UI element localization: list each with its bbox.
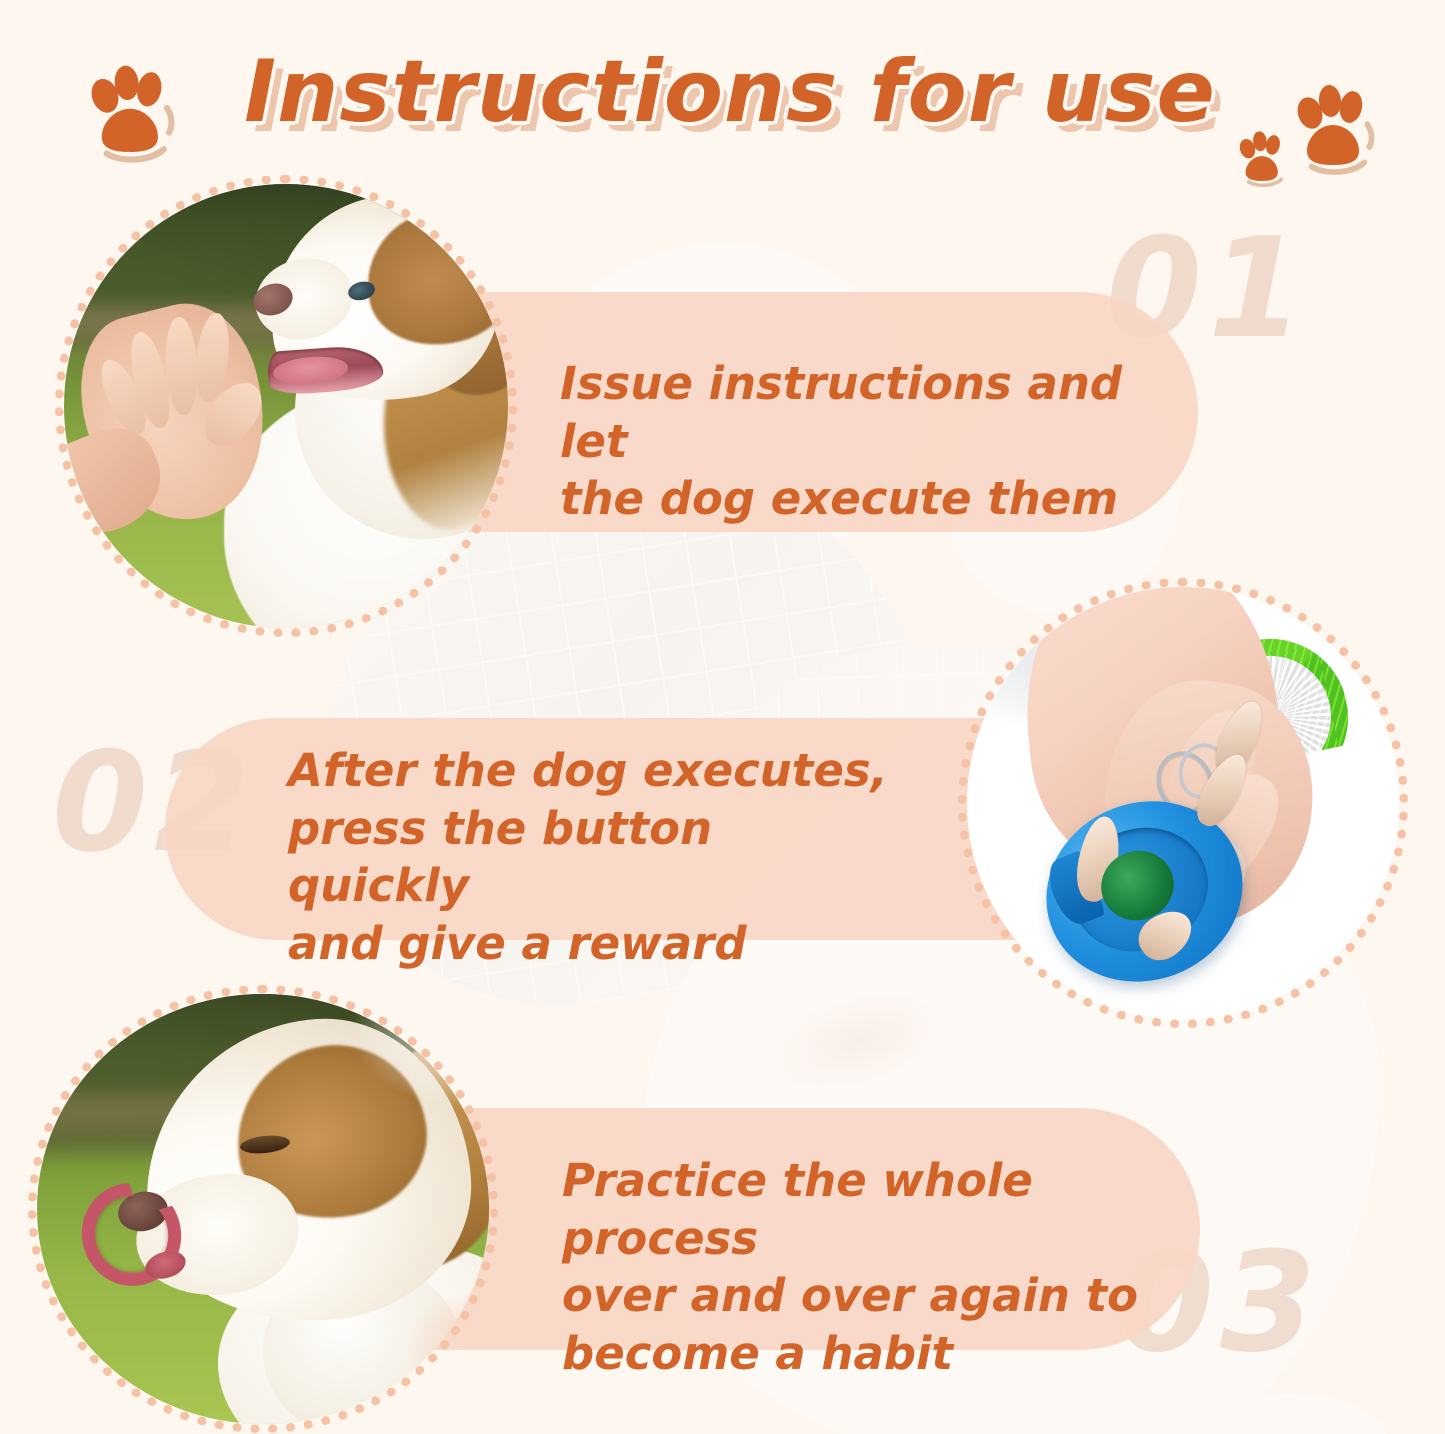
paw-print-icon: [1285, 76, 1385, 180]
watermark-dog-paw: [1144, 1383, 1395, 1434]
step-2-text: After the dog executes, press the button…: [288, 742, 908, 972]
step-3-text: Practice the whole process over and over…: [562, 1152, 1192, 1382]
step-3-photo: [28, 985, 498, 1433]
paw-print-icon: [78, 56, 186, 168]
step-2-photo: [958, 578, 1408, 1028]
instructions-poster: Instructions for use: [0, 0, 1445, 1434]
paw-print-icon: [1232, 126, 1294, 190]
page-title: Instructions for use: [200, 42, 1260, 142]
step-1-text: Issue instructions and let the dog execu…: [560, 355, 1180, 528]
header: Instructions for use: [0, 18, 1445, 168]
step-1-photo: [55, 175, 517, 637]
watermark-collar: [761, 972, 959, 1108]
